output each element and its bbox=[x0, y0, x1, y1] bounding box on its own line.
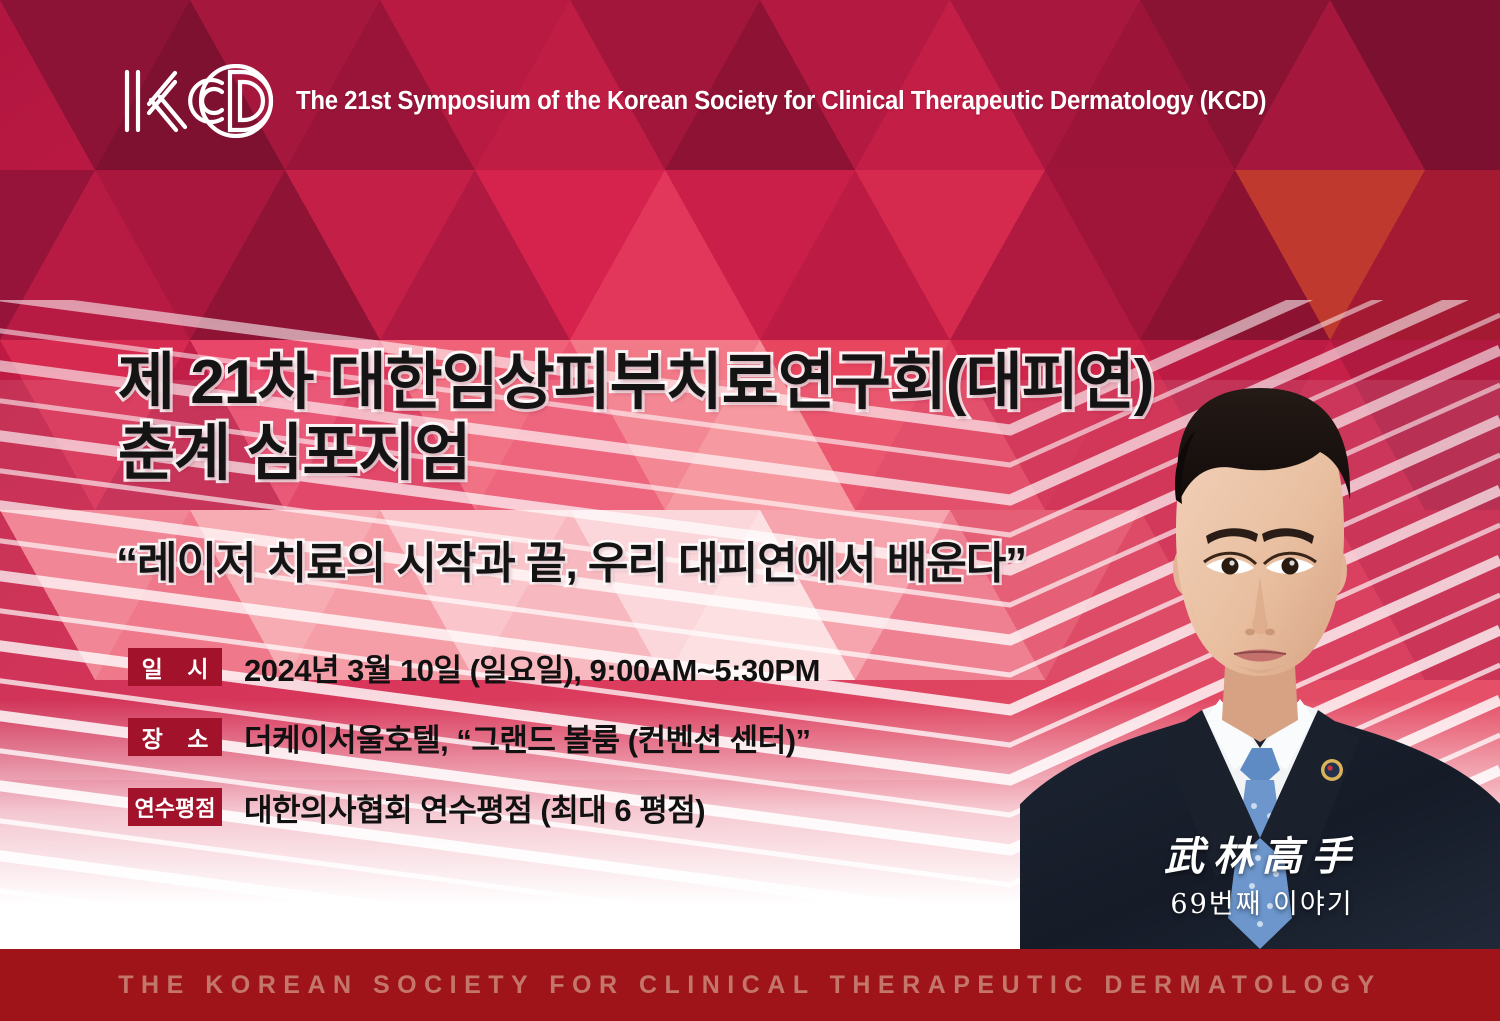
info-row-date: 일 시 2024년 3월 10일 (일요일), 9:00AM~5:30PM bbox=[128, 648, 820, 686]
info-value-venue: 더케이서울호텔, “그랜드 볼룸 (컨벤션 센터)” bbox=[244, 715, 811, 760]
kcd-monogram-icon bbox=[118, 64, 278, 138]
info-label-credits: 연수평점 bbox=[128, 788, 222, 826]
theme-quote: “레이저 치료의 시작과 끝, 우리 대피연에서 배운다” bbox=[116, 527, 1026, 591]
header-title: The 21st Symposium of the Korean Society… bbox=[296, 87, 1266, 116]
footer-text: THE KOREAN SOCIETY FOR CLINICAL THERAPEU… bbox=[118, 971, 1381, 1000]
poster-header: The 21st Symposium of the Korean Society… bbox=[118, 64, 1328, 138]
info-row-credits: 연수평점 대한의사협회 연수평점 (최대 6 평점) bbox=[128, 788, 820, 826]
info-label-venue: 장 소 bbox=[128, 718, 222, 756]
info-row-venue: 장 소 더케이서울호텔, “그랜드 볼룸 (컨벤션 센터)” bbox=[128, 718, 820, 756]
info-value-date: 2024년 3월 10일 (일요일), 9:00AM~5:30PM bbox=[244, 645, 820, 690]
footer-bar: THE KOREAN SOCIETY FOR CLINICAL THERAPEU… bbox=[0, 949, 1500, 1021]
event-info-list: 일 시 2024년 3월 10일 (일요일), 9:00AM~5:30PM 장 … bbox=[128, 648, 820, 858]
event-poster: The 21st Symposium of the Korean Society… bbox=[0, 0, 1500, 1021]
page-title: 제 21차 대한임상피부치료연구회(대피연) 춘계 심포지엄 bbox=[118, 348, 1153, 489]
info-value-credits: 대한의사협회 연수평점 (최대 6 평점) bbox=[244, 785, 705, 830]
title-line-2: 춘계 심포지엄 bbox=[118, 419, 1153, 490]
title-line-1: 제 21차 대한임상피부치료연구회(대피연) bbox=[118, 348, 1153, 419]
info-label-date: 일 시 bbox=[128, 648, 222, 686]
